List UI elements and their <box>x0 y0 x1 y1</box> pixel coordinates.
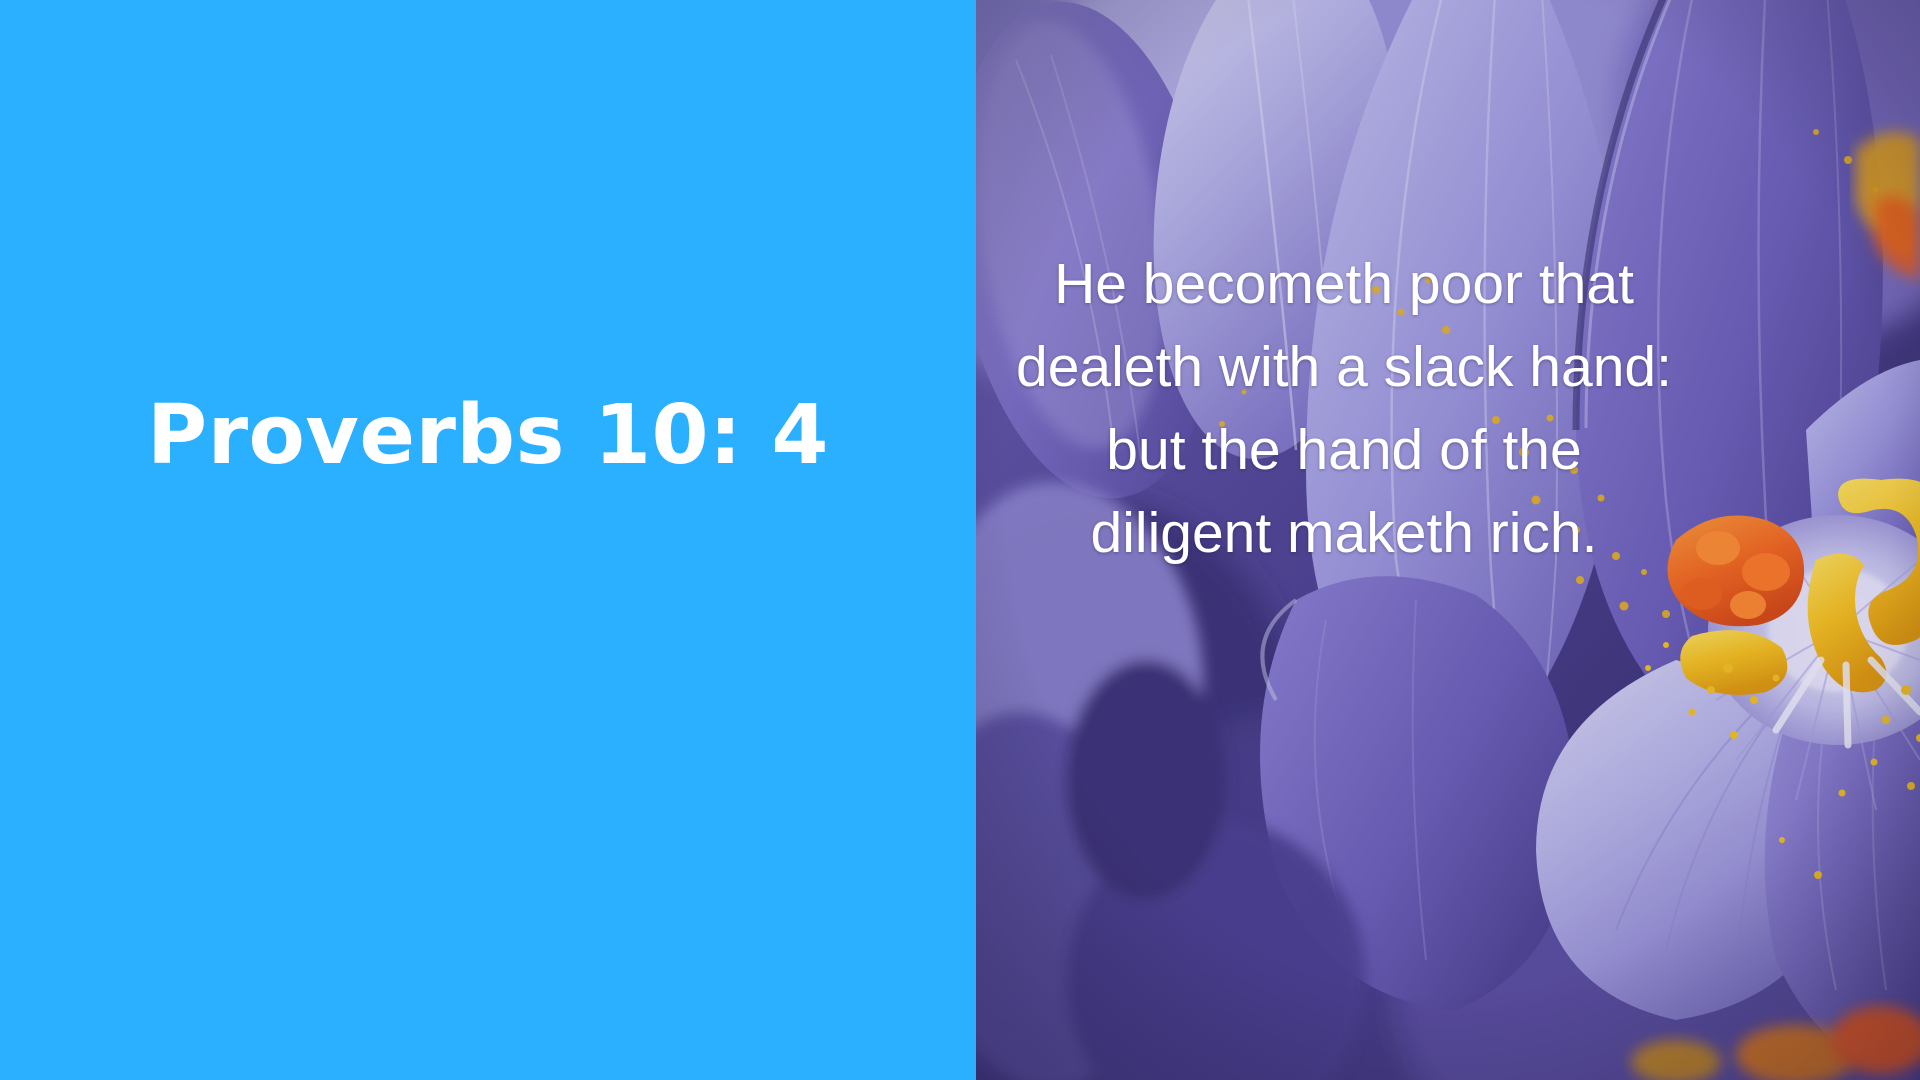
verse-line-2: dealeth with a slack hand: <box>976 326 1792 409</box>
verse-text-block: He becometh poor that dealeth with a sla… <box>976 243 1792 575</box>
page-title: Proverbs 10: 4 <box>0 393 976 479</box>
right-image-panel: He becometh poor that dealeth with a sla… <box>976 0 1920 1080</box>
verse-slide: Proverbs 10: 4 <box>0 0 1920 1080</box>
verse-line-3: but the hand of the <box>976 409 1792 492</box>
verse-line-4: diligent maketh rich. <box>976 492 1792 575</box>
verse-line-1: He becometh poor that <box>976 243 1792 326</box>
left-title-panel: Proverbs 10: 4 <box>0 0 976 1080</box>
